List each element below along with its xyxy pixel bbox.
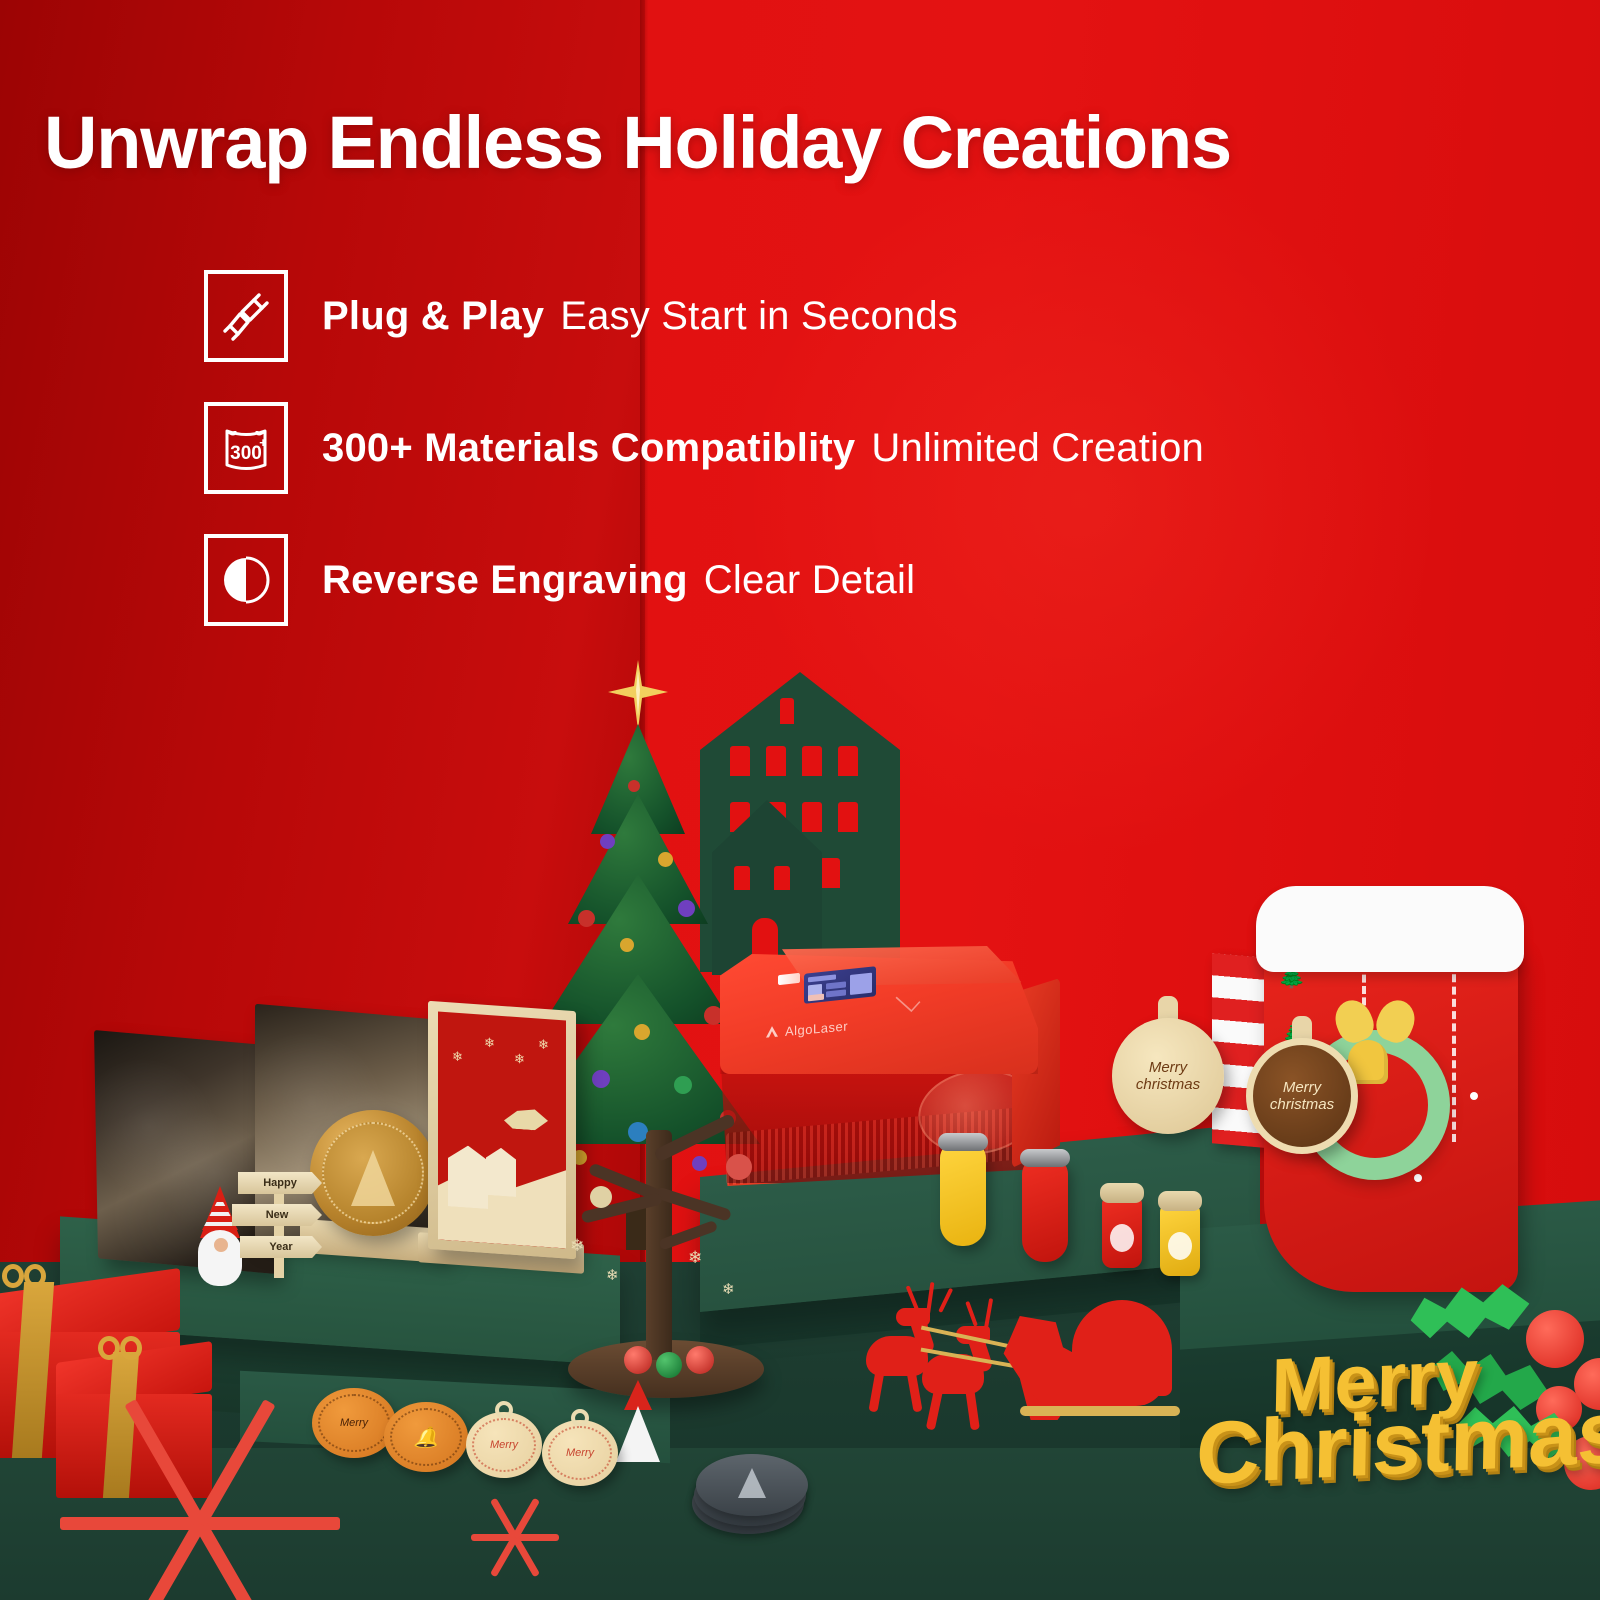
sign-line-2: New [232,1204,322,1226]
feature-text-plug-and-play: Plug & PlayEasy Start in Seconds [322,294,958,339]
feature-light-1: Unlimited Creation [871,426,1204,470]
cutting-board-dark: Merry christmas [1246,1030,1358,1162]
board-1-line2: christmas [1270,1096,1334,1113]
feature-bold-0: Plug & Play [322,294,544,338]
feature-text-materials: 300+ Materials CompatiblityUnlimited Cre… [322,426,1204,471]
cutting-board-light: Merry christmas [1112,1010,1224,1142]
feature-light-0: Easy Start in Seconds [560,294,958,338]
algolaser-mark-icon [764,1024,780,1039]
wooden-medallion-2: 🔔 [384,1402,468,1472]
machine-brand-name: AlgoLaser [785,1018,848,1039]
feature-bold-1: 300+ Materials Compatiblity [322,426,855,470]
half-filled-circle-icon [204,534,288,626]
merry-christmas-line2: Christmas [1195,1380,1600,1505]
sign-line-1: Happy [238,1172,322,1194]
tumbler-red [1022,1158,1068,1262]
feature-text-reverse-engraving: Reverse EngravingClear Detail [322,558,915,603]
mini-santa-tree-figure [610,1380,666,1466]
merry-christmas-3d-text: Merry Christmas [1195,1325,1600,1547]
paint-bottle-yellow [1160,1204,1200,1276]
feature-row-plug-and-play: Plug & PlayEasy Start in Seconds [204,268,1544,364]
medallion-2-line1: Merry [490,1439,518,1451]
disc-tree-icon [351,1150,395,1206]
holiday-promo-poster: Unwrap Endless Holiday Creations Plug & [0,0,1600,1600]
wooden-shadow-box: ❄ ❄ ❄ ❄ ❄ [428,1001,576,1259]
happy-new-year-sign: Happy New Year [232,1168,324,1278]
plug-connector-icon [204,270,288,362]
medallion-3-line1: Merry [566,1447,594,1459]
snowflake-cutout-large [60,1452,340,1582]
feature-row-materials: 300 + 300+ Materials CompatiblityUnlimit… [204,400,1544,496]
medallion-0-line1: Merry [340,1417,368,1429]
sign-line-3: Year [240,1236,322,1258]
wooden-medallion-4: Merry [542,1420,618,1486]
material-icon-plus: + [259,435,267,450]
board-0-line2: christmas [1136,1076,1200,1093]
page-title: Unwrap Endless Holiday Creations [44,104,1564,182]
feature-light-2: Clear Detail [704,558,915,602]
board-0-line1: Merry [1149,1059,1187,1076]
coaster-tree-icon [738,1468,766,1498]
feature-bold-2: Reverse Engraving [322,558,688,602]
tumbler-yellow [940,1142,986,1246]
sleigh-cutout [1000,1300,1190,1430]
wooden-medallion-1: Merry [312,1388,396,1458]
snowflake-cutout-small [470,1512,560,1556]
gold-engraved-disc [310,1110,436,1236]
board-1-line1: Merry [1283,1079,1321,1096]
tree-star-icon [608,660,668,730]
paint-bottle-red [1102,1196,1142,1268]
twig-ornament-stand: ❄ ❄ ❄ ❄ [560,1090,770,1390]
feature-list: Plug & PlayEasy Start in Seconds 300 + 3… [204,268,1544,664]
coaster-stack [690,1448,810,1534]
material-stack-300-icon: 300 + [204,402,288,494]
feature-row-reverse-engraving: Reverse EngravingClear Detail [204,532,1544,628]
wooden-medallion-3: Merry [466,1412,542,1478]
material-icon-count: 300 [230,443,262,464]
